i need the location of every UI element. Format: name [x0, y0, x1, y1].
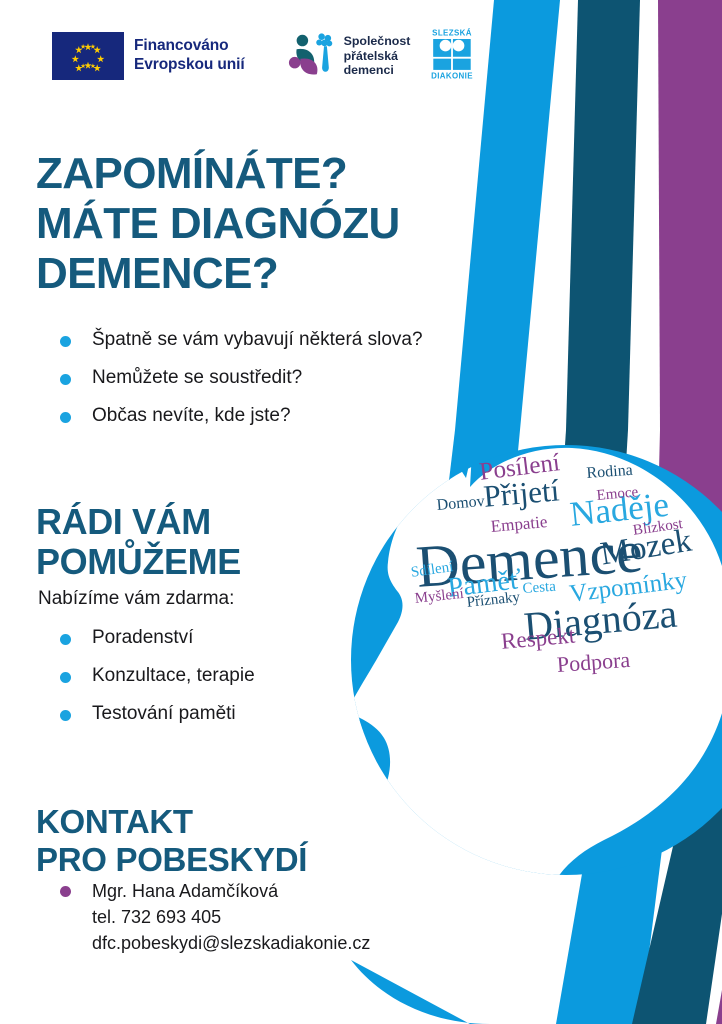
bullet-dot-icon: [60, 672, 71, 683]
logo-row: Financováno Evropskou unií: [52, 28, 481, 84]
slezska-diakonie-squares-icon: SLEZSKÁ DIAKONIE: [423, 26, 481, 82]
symptom-list: Špatně se vám vybavují některá slova? Ne…: [56, 328, 496, 441]
contact-phone[interactable]: tel. 732 693 405: [92, 904, 480, 930]
bullet-dot-icon: [60, 634, 71, 645]
bullet-dot-icon: [60, 412, 71, 423]
contact-block: Mgr. Hana Adamčíková tel. 732 693 405 df…: [60, 878, 480, 956]
list-item: Občas nevíte, kde jste?: [56, 404, 496, 428]
svg-text:DIAKONIE: DIAKONIE: [431, 71, 473, 80]
contact-email[interactable]: dfc.pobeskydi@slezskadiakonie.cz: [92, 930, 480, 956]
svg-text:SLEZSKÁ: SLEZSKÁ: [433, 28, 473, 37]
word-cloud-word: Podpora: [556, 647, 631, 678]
help-intro-text: Nabízíme vám zdarma:: [38, 588, 234, 610]
contact-heading: KONTAKT PRO POBESKYDÍ: [36, 803, 436, 878]
list-item: Testování paměti: [56, 702, 386, 726]
list-item: Konzultace, terapie: [56, 664, 386, 688]
stripe-purple-bottom: [716, 820, 722, 1024]
word-cloud-word: Sdílení: [410, 559, 454, 582]
word-cloud-word: Demence: [414, 517, 645, 602]
dementia-friendly-figures-icon: [287, 29, 337, 84]
word-cloud-word: Příznaky: [466, 589, 521, 611]
contact-name: Mgr. Hana Adamčíková: [92, 878, 480, 904]
word-cloud-word: Přijetí: [482, 472, 561, 514]
dementia-friendly-logo: Společnost přátelská demenci: [287, 29, 411, 84]
list-item: Špatně se vám vybavují některá slova?: [56, 328, 496, 352]
word-cloud-word: Myšlení: [414, 586, 465, 608]
stripe-purple-mid: [652, 430, 722, 760]
service-list: Poradenství Konzultace, terapie Testován…: [56, 626, 386, 739]
bullet-dot-icon: [60, 374, 71, 385]
word-cloud: DemenceDiagnózaNadějeMozekPřijetíVzpomín…: [400, 455, 710, 700]
word-cloud-word: Vzpomínky: [568, 567, 689, 609]
list-item: Nemůžete se soustředit?: [56, 366, 496, 390]
word-cloud-word: Mozek: [598, 523, 694, 574]
slezska-diakonie-logo: SLEZSKÁ DIAKONIE: [423, 26, 481, 87]
page-title: ZAPOMÍNÁTE? MÁTE DIAGNÓZU DEMENCE?: [36, 149, 506, 298]
bullet-dot-icon: [60, 336, 71, 347]
word-cloud-word: Naděje: [568, 485, 671, 535]
bullet-dot-icon: [60, 710, 71, 721]
word-cloud-word: Cesta: [522, 579, 556, 598]
word-cloud-word: Respekt: [500, 623, 576, 655]
ring-lower-arc: [351, 960, 490, 1024]
word-cloud-word: Emoce: [596, 484, 639, 505]
eu-flag-icon: [52, 32, 124, 80]
stripe-blue-mid: [430, 430, 520, 640]
poster-root: Financováno Evropskou unií: [0, 0, 722, 1024]
word-cloud-word: Paměť: [446, 564, 524, 605]
service-text: Konzultace, terapie: [92, 665, 255, 686]
word-cloud-word: Empatie: [490, 512, 548, 537]
help-heading: RÁDI VÁM POMŮŽEME: [36, 502, 366, 583]
stripe-teal-mid: [548, 430, 628, 700]
word-cloud-word: Blízkost: [632, 516, 684, 540]
list-item: Poradenství: [56, 626, 386, 650]
stripe-purple-top: [658, 0, 722, 430]
stripe-teal-top: [566, 0, 640, 430]
symptom-text: Občas nevíte, kde jste?: [92, 405, 291, 426]
service-text: Testování paměti: [92, 703, 236, 724]
eu-funding-logo: Financováno Evropskou unií: [52, 32, 245, 80]
service-text: Poradenství: [92, 627, 193, 648]
word-cloud-word: Posílení: [478, 449, 561, 487]
word-cloud-word: Rodina: [586, 462, 633, 483]
word-cloud-word: Diagnóza: [522, 590, 679, 650]
dementia-friendly-label: Společnost přátelská demenci: [344, 34, 411, 78]
stripe-teal-bottom: [632, 790, 722, 1024]
symptom-text: Nemůžete se soustředit?: [92, 367, 302, 388]
stripe-blue-bottom: [556, 770, 672, 1024]
bullet-dot-icon: [60, 886, 71, 897]
symptom-text: Špatně se vám vybavují některá slova?: [92, 329, 423, 350]
eu-funding-label: Financováno Evropskou unií: [134, 37, 245, 75]
word-cloud-word: Domov: [436, 493, 485, 515]
